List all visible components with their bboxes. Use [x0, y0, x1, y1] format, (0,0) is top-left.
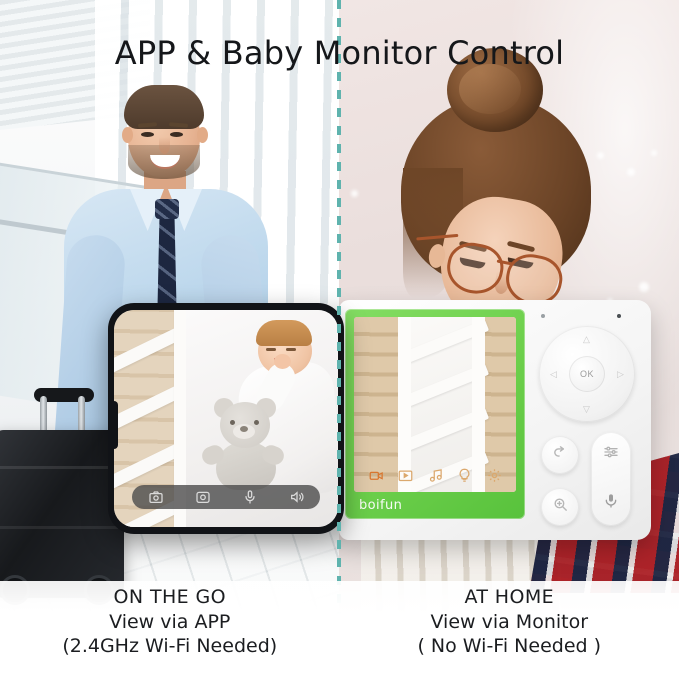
monitor-green-bezel: boifun	[345, 309, 525, 519]
microphone-icon[interactable]	[242, 489, 258, 505]
dpad-up-icon[interactable]: △	[583, 335, 590, 344]
zoom-button[interactable]	[541, 488, 579, 526]
eye-right	[170, 132, 183, 137]
monitor-screen	[354, 317, 516, 492]
tie-knot	[155, 199, 179, 219]
suitcase-seam	[0, 466, 118, 469]
caption-right-line2: View via Monitor	[430, 610, 588, 635]
status-led-left	[541, 314, 545, 318]
back-button[interactable]	[541, 436, 579, 474]
ok-button[interactable]: OK	[569, 356, 605, 392]
caption-left: ON THE GO View via APP (2.4GHz Wi-Fi Nee…	[0, 581, 340, 679]
hair	[124, 85, 204, 129]
baby-hand	[274, 354, 291, 369]
lullaby-icon[interactable]	[428, 468, 443, 483]
phone-screen	[114, 310, 338, 527]
suitcase-seam-lower	[0, 526, 118, 529]
page-title: APP & Baby Monitor Control	[0, 34, 679, 72]
teddy-eye-right	[254, 420, 259, 425]
teddy-nose	[240, 426, 248, 432]
ear-right	[197, 127, 208, 143]
sliders-icon[interactable]	[603, 444, 619, 465]
speaker-icon[interactable]	[289, 489, 305, 505]
night-light-icon[interactable]	[457, 468, 472, 483]
ear-left	[122, 127, 133, 143]
dpad-navigation[interactable]: △ ▽ ◁ ▷ OK	[539, 326, 635, 422]
record-icon[interactable]	[195, 489, 211, 505]
caption-right: AT HOME View via Monitor ( No Wi-Fi Need…	[340, 581, 679, 679]
vertical-dashed-divider	[337, 0, 341, 679]
return-arrow-icon	[552, 444, 569, 466]
baby-eye-left	[266, 348, 276, 351]
phone-side-notch	[114, 401, 118, 449]
lens-left	[443, 239, 508, 299]
talk-microphone-icon[interactable]	[603, 492, 619, 515]
smartphone-device	[108, 303, 344, 534]
camera-icon[interactable]	[369, 468, 384, 483]
baby-hair	[256, 320, 312, 346]
bokeh-light	[351, 190, 358, 197]
caption-right-line1: AT HOME	[464, 585, 554, 610]
brand-logo: boifun	[359, 498, 402, 513]
caption-left-line1: ON THE GO	[114, 585, 226, 610]
monitor-screen-toolbar	[354, 464, 516, 486]
baby-eye-right	[286, 348, 296, 351]
rolling-suitcase	[0, 430, 124, 598]
caption-right-line3: ( No Wi-Fi Needed )	[417, 634, 601, 659]
status-led-right	[617, 314, 621, 318]
snapshot-icon[interactable]	[148, 489, 164, 505]
product-feature-image: boifun △ ▽ ◁ ▷ OK	[0, 0, 679, 679]
menu-talk-pill[interactable]	[591, 432, 631, 526]
dpad-down-icon[interactable]: ▽	[583, 405, 590, 414]
magnifier-plus-icon	[552, 496, 569, 518]
settings-icon[interactable]	[487, 468, 502, 483]
nose	[159, 137, 170, 154]
eye-left	[141, 132, 154, 137]
teddy-bear	[208, 402, 282, 488]
baby-monitor-device: boifun △ ▽ ◁ ▷ OK	[339, 300, 651, 540]
dpad-right-icon[interactable]: ▷	[617, 370, 624, 379]
monitor-control-panel: △ ▽ ◁ ▷ OK	[533, 310, 643, 528]
bokeh-light	[627, 168, 635, 176]
dpad-left-icon[interactable]: ◁	[550, 370, 557, 379]
caption-bar: ON THE GO View via APP (2.4GHz Wi-Fi Nee…	[0, 581, 679, 679]
app-control-toolbar	[132, 485, 320, 509]
bokeh-light	[651, 150, 657, 156]
caption-left-line2: View via APP	[109, 610, 230, 635]
teddy-eye-left	[230, 420, 235, 425]
bokeh-light	[639, 282, 649, 292]
playback-icon[interactable]	[398, 468, 413, 483]
caption-left-line3: (2.4GHz Wi-Fi Needed)	[62, 634, 277, 659]
